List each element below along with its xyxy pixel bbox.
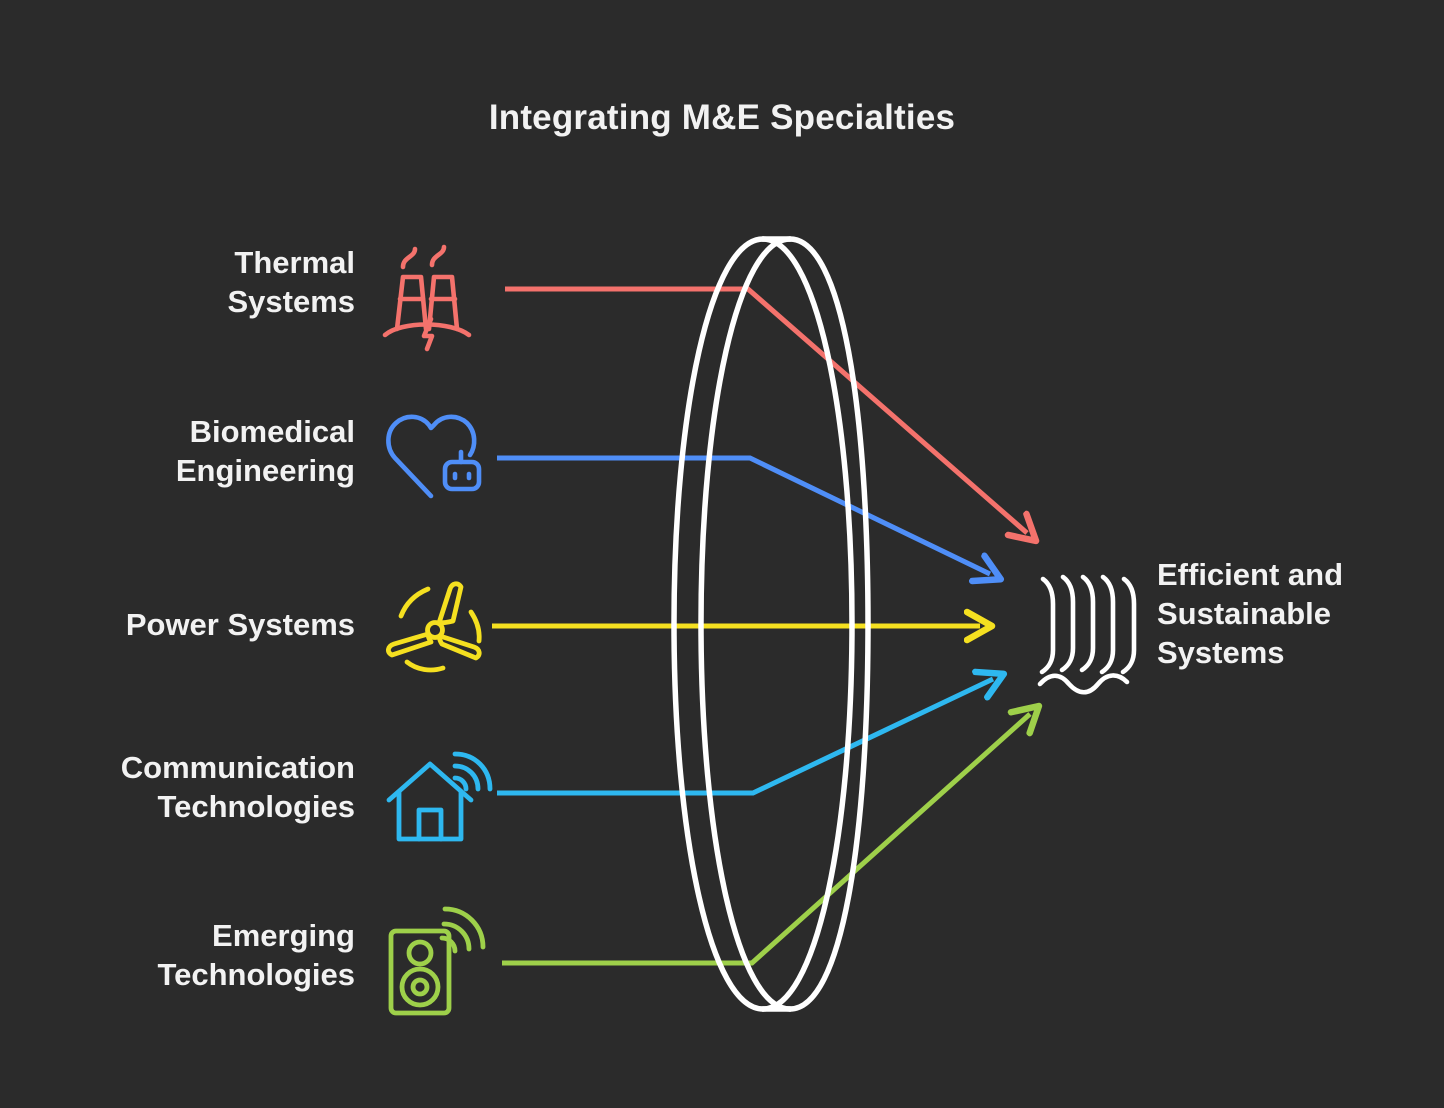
source-label-line1: Thermal (0, 243, 355, 282)
source-label-communication-technologies: Communication Technologies (0, 748, 355, 826)
output-label-line3: Systems (1157, 633, 1427, 672)
source-label-line1: Power Systems (0, 605, 355, 644)
output-label-line1: Efficient and (1157, 555, 1427, 594)
flow-emerging (502, 714, 1030, 963)
power-plant-icon (385, 247, 469, 349)
source-label-line2: Engineering (0, 451, 355, 490)
smart-home-wifi-icon (389, 754, 490, 839)
source-label-power-systems: Power Systems (0, 605, 355, 644)
source-label-emerging-technologies: Emerging Technologies (0, 916, 355, 994)
source-label-line2: Technologies (0, 955, 355, 994)
wind-turbine-icon (388, 584, 479, 670)
source-label-biomedical-engineering: Biomedical Engineering (0, 412, 355, 490)
source-label-line2: Technologies (0, 787, 355, 826)
flow-thermal (505, 289, 1027, 533)
source-label-line2: Systems (0, 282, 355, 321)
source-label-line1: Biomedical (0, 412, 355, 451)
source-label-line1: Emerging (0, 916, 355, 955)
source-label-thermal-systems: Thermal Systems (0, 243, 355, 321)
smart-speaker-icon (391, 909, 483, 1013)
flow-communication (497, 679, 993, 793)
output-label-line2: Sustainable (1157, 594, 1427, 633)
output-label-efficient-sustainable-systems: Efficient and Sustainable Systems (1157, 555, 1427, 672)
diagram-canvas: Integrating M&E Specialties (0, 0, 1444, 1108)
heart-robot-icon (388, 417, 479, 496)
flow-biomedical (497, 458, 990, 574)
source-label-line1: Communication (0, 748, 355, 787)
water-flow-icon (1040, 577, 1134, 692)
